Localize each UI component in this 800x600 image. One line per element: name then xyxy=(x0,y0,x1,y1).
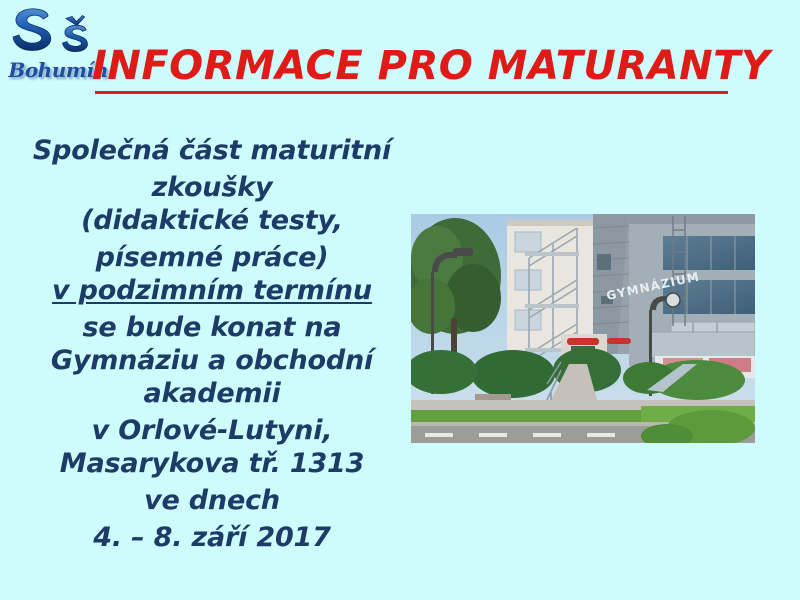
title-underline-rule xyxy=(95,91,728,94)
body-line: v Orlové-Lutyni, xyxy=(22,414,402,447)
body-line: 4. – 8. září 2017 xyxy=(22,521,402,554)
body-line: zkoušky xyxy=(22,171,402,204)
body-line: ve dnech xyxy=(22,484,402,517)
presentation-slide: Bohumín INFORMACE PRO MATURANTY Společná… xyxy=(0,0,800,600)
page-title: INFORMACE PRO MATURANTY xyxy=(92,44,734,88)
body-line: (didaktické testy, xyxy=(22,204,402,237)
slide-body-text: Společná část maturitní zkoušky (didakti… xyxy=(22,134,402,558)
body-line: Masarykova tř. 1313 xyxy=(22,447,402,480)
body-line: se bude konat na xyxy=(22,311,402,344)
school-building-photo: GYMNÁZIUM xyxy=(411,214,755,443)
body-line: Společná část maturitní xyxy=(22,134,402,167)
body-line-highlighted: v podzimním termínu xyxy=(22,274,402,307)
body-line: písemné práce) xyxy=(22,241,402,274)
body-line: Gymnáziu a obchodní xyxy=(22,344,402,377)
body-line: akademii xyxy=(22,377,402,410)
